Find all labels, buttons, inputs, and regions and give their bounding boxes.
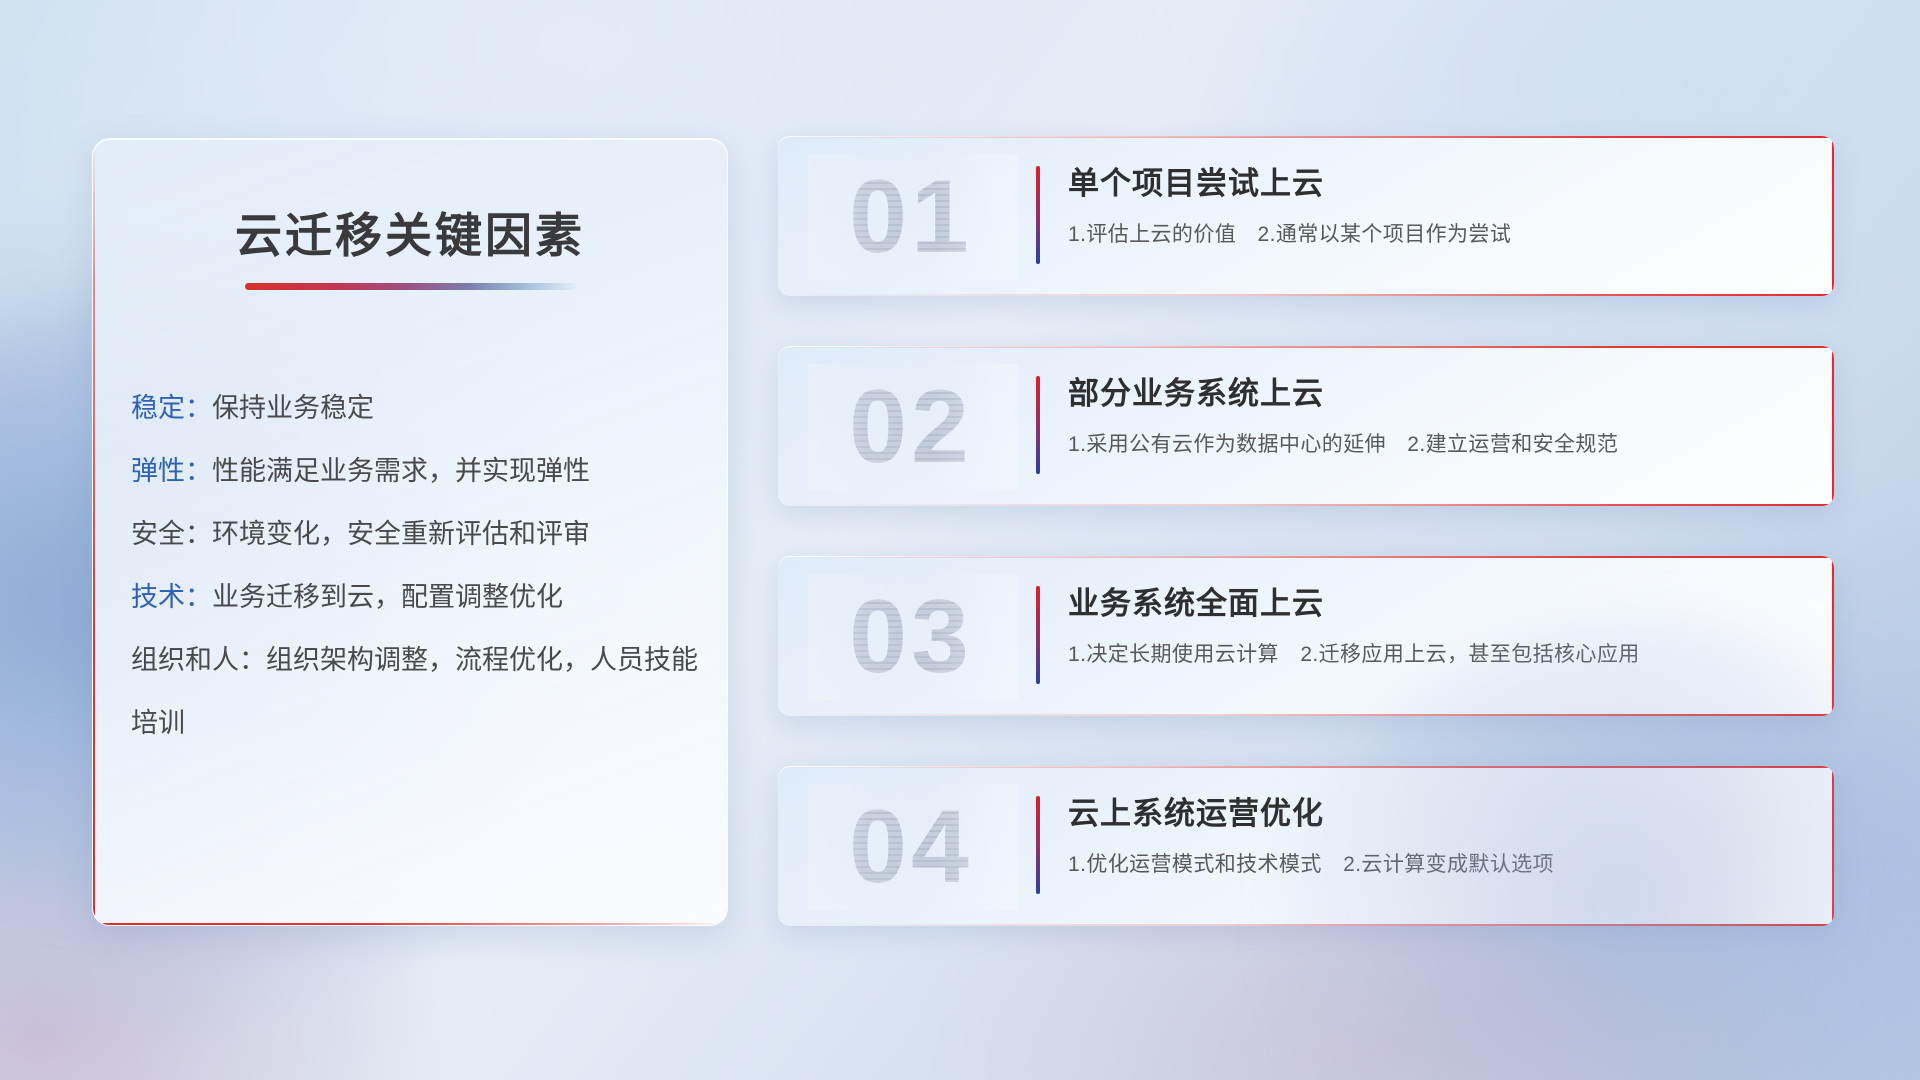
card-number: 02 xyxy=(816,368,1006,486)
card-title: 单个项目尝试上云 xyxy=(1068,164,1806,204)
card-body: 单个项目尝试上云 1.评估上云的价值 2.通常以某个项目作为尝试 xyxy=(1068,164,1806,250)
card-number: 03 xyxy=(816,578,1006,696)
card-accent-bar xyxy=(1036,796,1040,894)
card-accent-bar xyxy=(1036,586,1040,684)
card-description: 1.决定长期使用云计算 2.迁移应用上云，甚至包括核心应用 xyxy=(1068,640,1806,670)
card-bottom-border xyxy=(778,924,1834,926)
card-accent-bar xyxy=(1036,166,1040,264)
slide-canvas: 云迁移关键因素 稳定：保持业务稳定 弹性：性能满足业务需求，并实现弹性 安全：环… xyxy=(0,0,1920,1080)
card-bottom-border xyxy=(778,714,1834,716)
factor-text: 环境变化，安全重新评估和评审 xyxy=(212,519,590,549)
title-underline-gradient xyxy=(245,283,575,290)
card-accent-bar xyxy=(1036,376,1040,474)
factor-text: 保持业务稳定 xyxy=(212,393,374,423)
card-title: 部分业务系统上云 xyxy=(1068,374,1806,414)
card-body: 业务系统全面上云 1.决定长期使用云计算 2.迁移应用上云，甚至包括核心应用 xyxy=(1068,584,1806,670)
factor-item: 组织和人：组织架构调整，流程优化，人员技能培训 xyxy=(131,629,701,755)
factor-item: 技术：业务迁移到云，配置调整优化 xyxy=(131,566,701,629)
card-top-border xyxy=(778,346,1834,348)
stage-card[interactable]: 04 云上系统运营优化 1.优化运营模式和技术模式 2.云计算变成默认选项 xyxy=(778,766,1834,926)
factor-item: 稳定：保持业务稳定 xyxy=(131,377,701,440)
card-body: 云上系统运营优化 1.优化运营模式和技术模式 2.云计算变成默认选项 xyxy=(1068,794,1806,880)
factor-key: 安全： xyxy=(131,519,212,549)
card-right-border xyxy=(1832,556,1834,716)
factor-item: 安全：环境变化，安全重新评估和评审 xyxy=(131,503,701,566)
factor-key: 组织和人： xyxy=(131,645,266,675)
card-title: 云上系统运营优化 xyxy=(1068,794,1806,834)
factor-list: 稳定：保持业务稳定 弹性：性能满足业务需求，并实现弹性 安全：环境变化，安全重新… xyxy=(131,377,701,755)
card-description: 1.采用公有云作为数据中心的延伸 2.建立运营和安全规范 xyxy=(1068,430,1806,460)
card-description: 1.评估上云的价值 2.通常以某个项目作为尝试 xyxy=(1068,220,1806,250)
card-number: 01 xyxy=(816,158,1006,276)
factor-text: 性能满足业务需求，并实现弹性 xyxy=(212,456,590,486)
card-right-border xyxy=(1832,346,1834,506)
card-bottom-border xyxy=(778,504,1834,506)
card-top-border xyxy=(778,556,1834,558)
stage-card[interactable]: 03 业务系统全面上云 1.决定长期使用云计算 2.迁移应用上云，甚至包括核心应… xyxy=(778,556,1834,716)
card-body: 部分业务系统上云 1.采用公有云作为数据中心的延伸 2.建立运营和安全规范 xyxy=(1068,374,1806,460)
factor-item: 弹性：性能满足业务需求，并实现弹性 xyxy=(131,440,701,503)
card-right-border xyxy=(1832,136,1834,296)
stage-card-list: 01 单个项目尝试上云 1.评估上云的价值 2.通常以某个项目作为尝试 02 部… xyxy=(778,136,1834,976)
card-description: 1.优化运营模式和技术模式 2.云计算变成默认选项 xyxy=(1068,850,1806,880)
card-title: 业务系统全面上云 xyxy=(1068,584,1806,624)
factor-key: 弹性： xyxy=(131,456,212,486)
card-number: 04 xyxy=(816,788,1006,906)
card-right-border xyxy=(1832,766,1834,926)
factor-key: 稳定： xyxy=(131,393,212,423)
card-bottom-border xyxy=(778,294,1834,296)
stage-card[interactable]: 02 部分业务系统上云 1.采用公有云作为数据中心的延伸 2.建立运营和安全规范 xyxy=(778,346,1834,506)
panel-title: 云迁移关键因素 xyxy=(93,197,727,266)
key-factors-panel: 云迁移关键因素 稳定：保持业务稳定 弹性：性能满足业务需求，并实现弹性 安全：环… xyxy=(92,138,728,926)
card-top-border xyxy=(778,136,1834,138)
stage-card[interactable]: 01 单个项目尝试上云 1.评估上云的价值 2.通常以某个项目作为尝试 xyxy=(778,136,1834,296)
factor-key: 技术： xyxy=(131,582,212,612)
card-top-border xyxy=(778,766,1834,768)
factor-text: 业务迁移到云，配置调整优化 xyxy=(212,582,563,612)
panel-bottom-accent-edge xyxy=(93,923,727,925)
